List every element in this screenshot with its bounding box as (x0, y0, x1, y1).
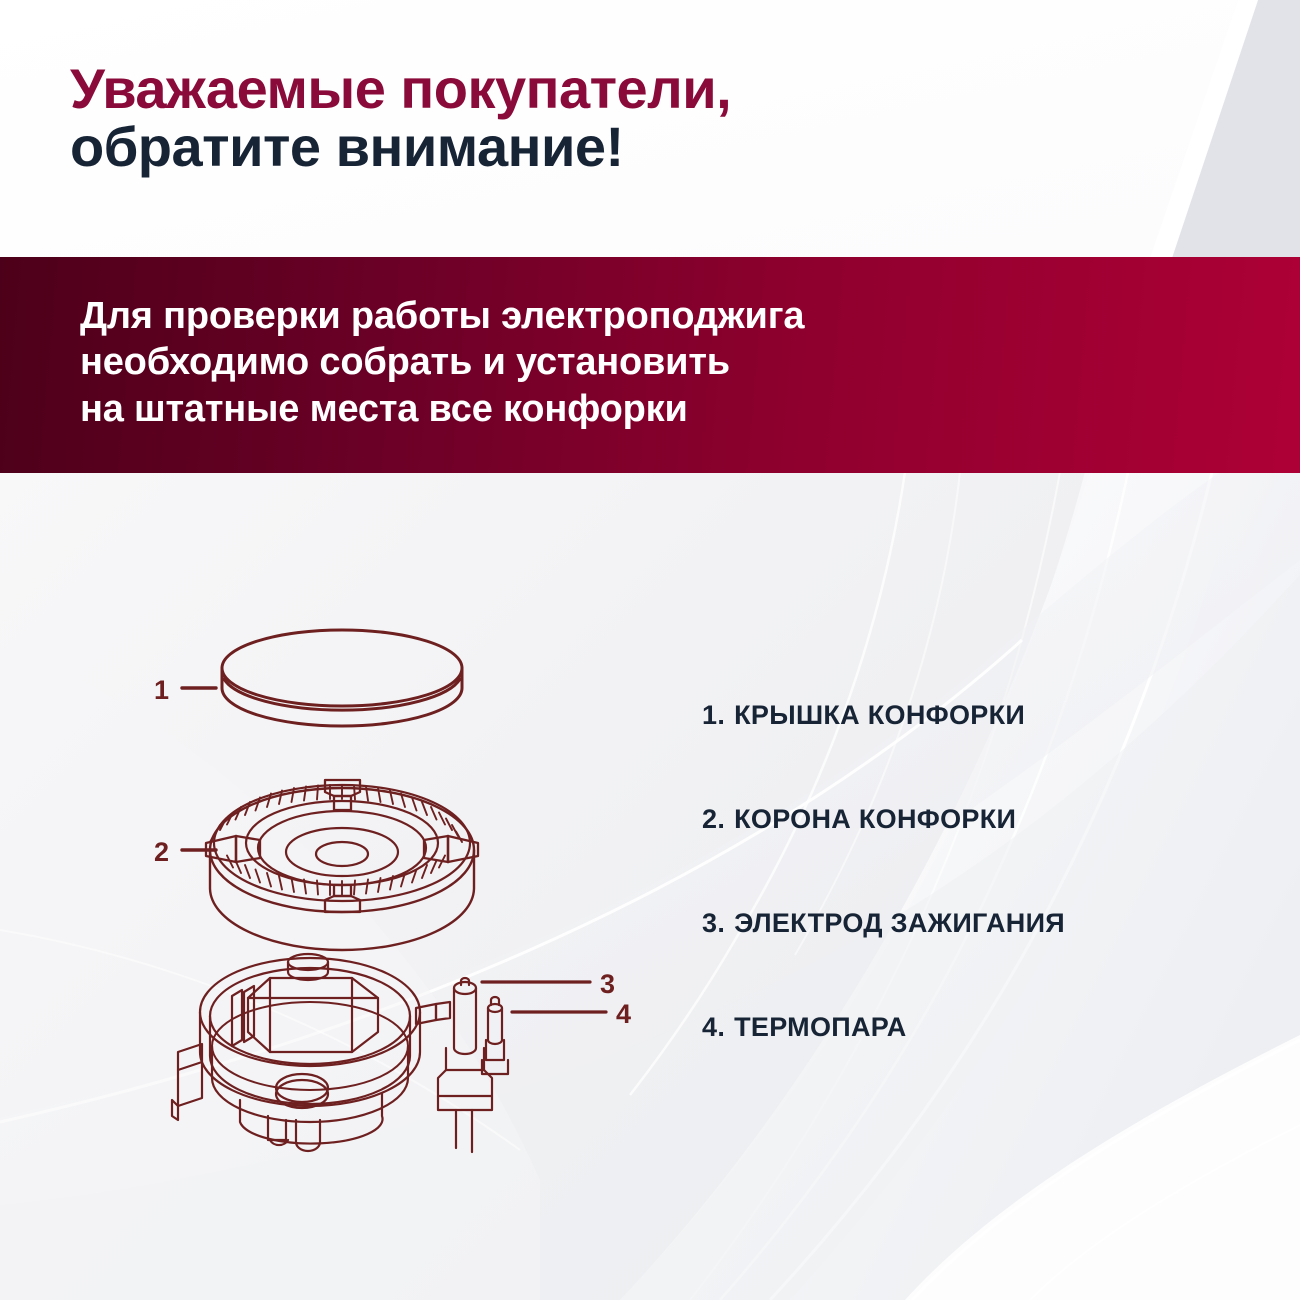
legend-item-2-label: КОРОНА КОНФОРКИ (734, 804, 1016, 834)
burner-cap (222, 630, 462, 726)
instruction-banner-text: Для проверки работы электроподжига необх… (80, 293, 1200, 432)
thermocouple (482, 997, 508, 1074)
parts-legend: 1.КРЫШКА КОНФОРКИ 2.КОРОНА КОНФОРКИ 3.ЭЛ… (702, 700, 1222, 1116)
legend-item-2-number: 2. (702, 804, 725, 834)
legend-item-4-number: 4. (702, 1012, 725, 1042)
legend-item-3-number: 3. (702, 908, 725, 938)
ignition-electrode (416, 978, 492, 1152)
instruction-banner: Для проверки работы электроподжига необх… (0, 257, 1300, 473)
promo-banner-page: Уважаемые покупатели, обратите внимание!… (0, 0, 1300, 1300)
page-title-line-2: обратите внимание! (70, 118, 1070, 176)
legend-item-4: 4.ТЕРМОПАРА (702, 1012, 1222, 1116)
legend-item-3: 3.ЭЛЕКТРОД ЗАЖИГАНИЯ (702, 908, 1222, 1012)
page-title: Уважаемые покупатели, обратите внимание! (70, 60, 1070, 176)
legend-item-4-label: ТЕРМОПАРА (734, 1012, 906, 1042)
legend-item-1-label: КРЫШКА КОНФОРКИ (734, 700, 1025, 730)
legend-item-2: 2.КОРОНА КОНФОРКИ (702, 804, 1222, 908)
burner-base (172, 954, 420, 1151)
burner-crown (206, 780, 478, 950)
legend-item-1-number: 1. (702, 700, 725, 730)
burner-exploded-diagram: 1 2 3 4 (120, 600, 740, 1160)
callout-2-number: 2 (154, 837, 169, 867)
instruction-line-2: необходимо собрать и установить (80, 339, 1200, 385)
page-title-line-1: Уважаемые покупатели, (70, 60, 1070, 118)
callout-3-number: 3 (600, 969, 615, 999)
callout-1-number: 1 (154, 675, 169, 705)
instruction-line-3: на штатные места все конфорки (80, 386, 1200, 432)
instruction-line-1: Для проверки работы электроподжига (80, 293, 1200, 339)
callout-4-number: 4 (616, 999, 631, 1029)
legend-item-3-label: ЭЛЕКТРОД ЗАЖИГАНИЯ (734, 908, 1065, 938)
legend-item-1: 1.КРЫШКА КОНФОРКИ (702, 700, 1222, 804)
page-header: Уважаемые покупатели, обратите внимание! (0, 0, 1300, 257)
